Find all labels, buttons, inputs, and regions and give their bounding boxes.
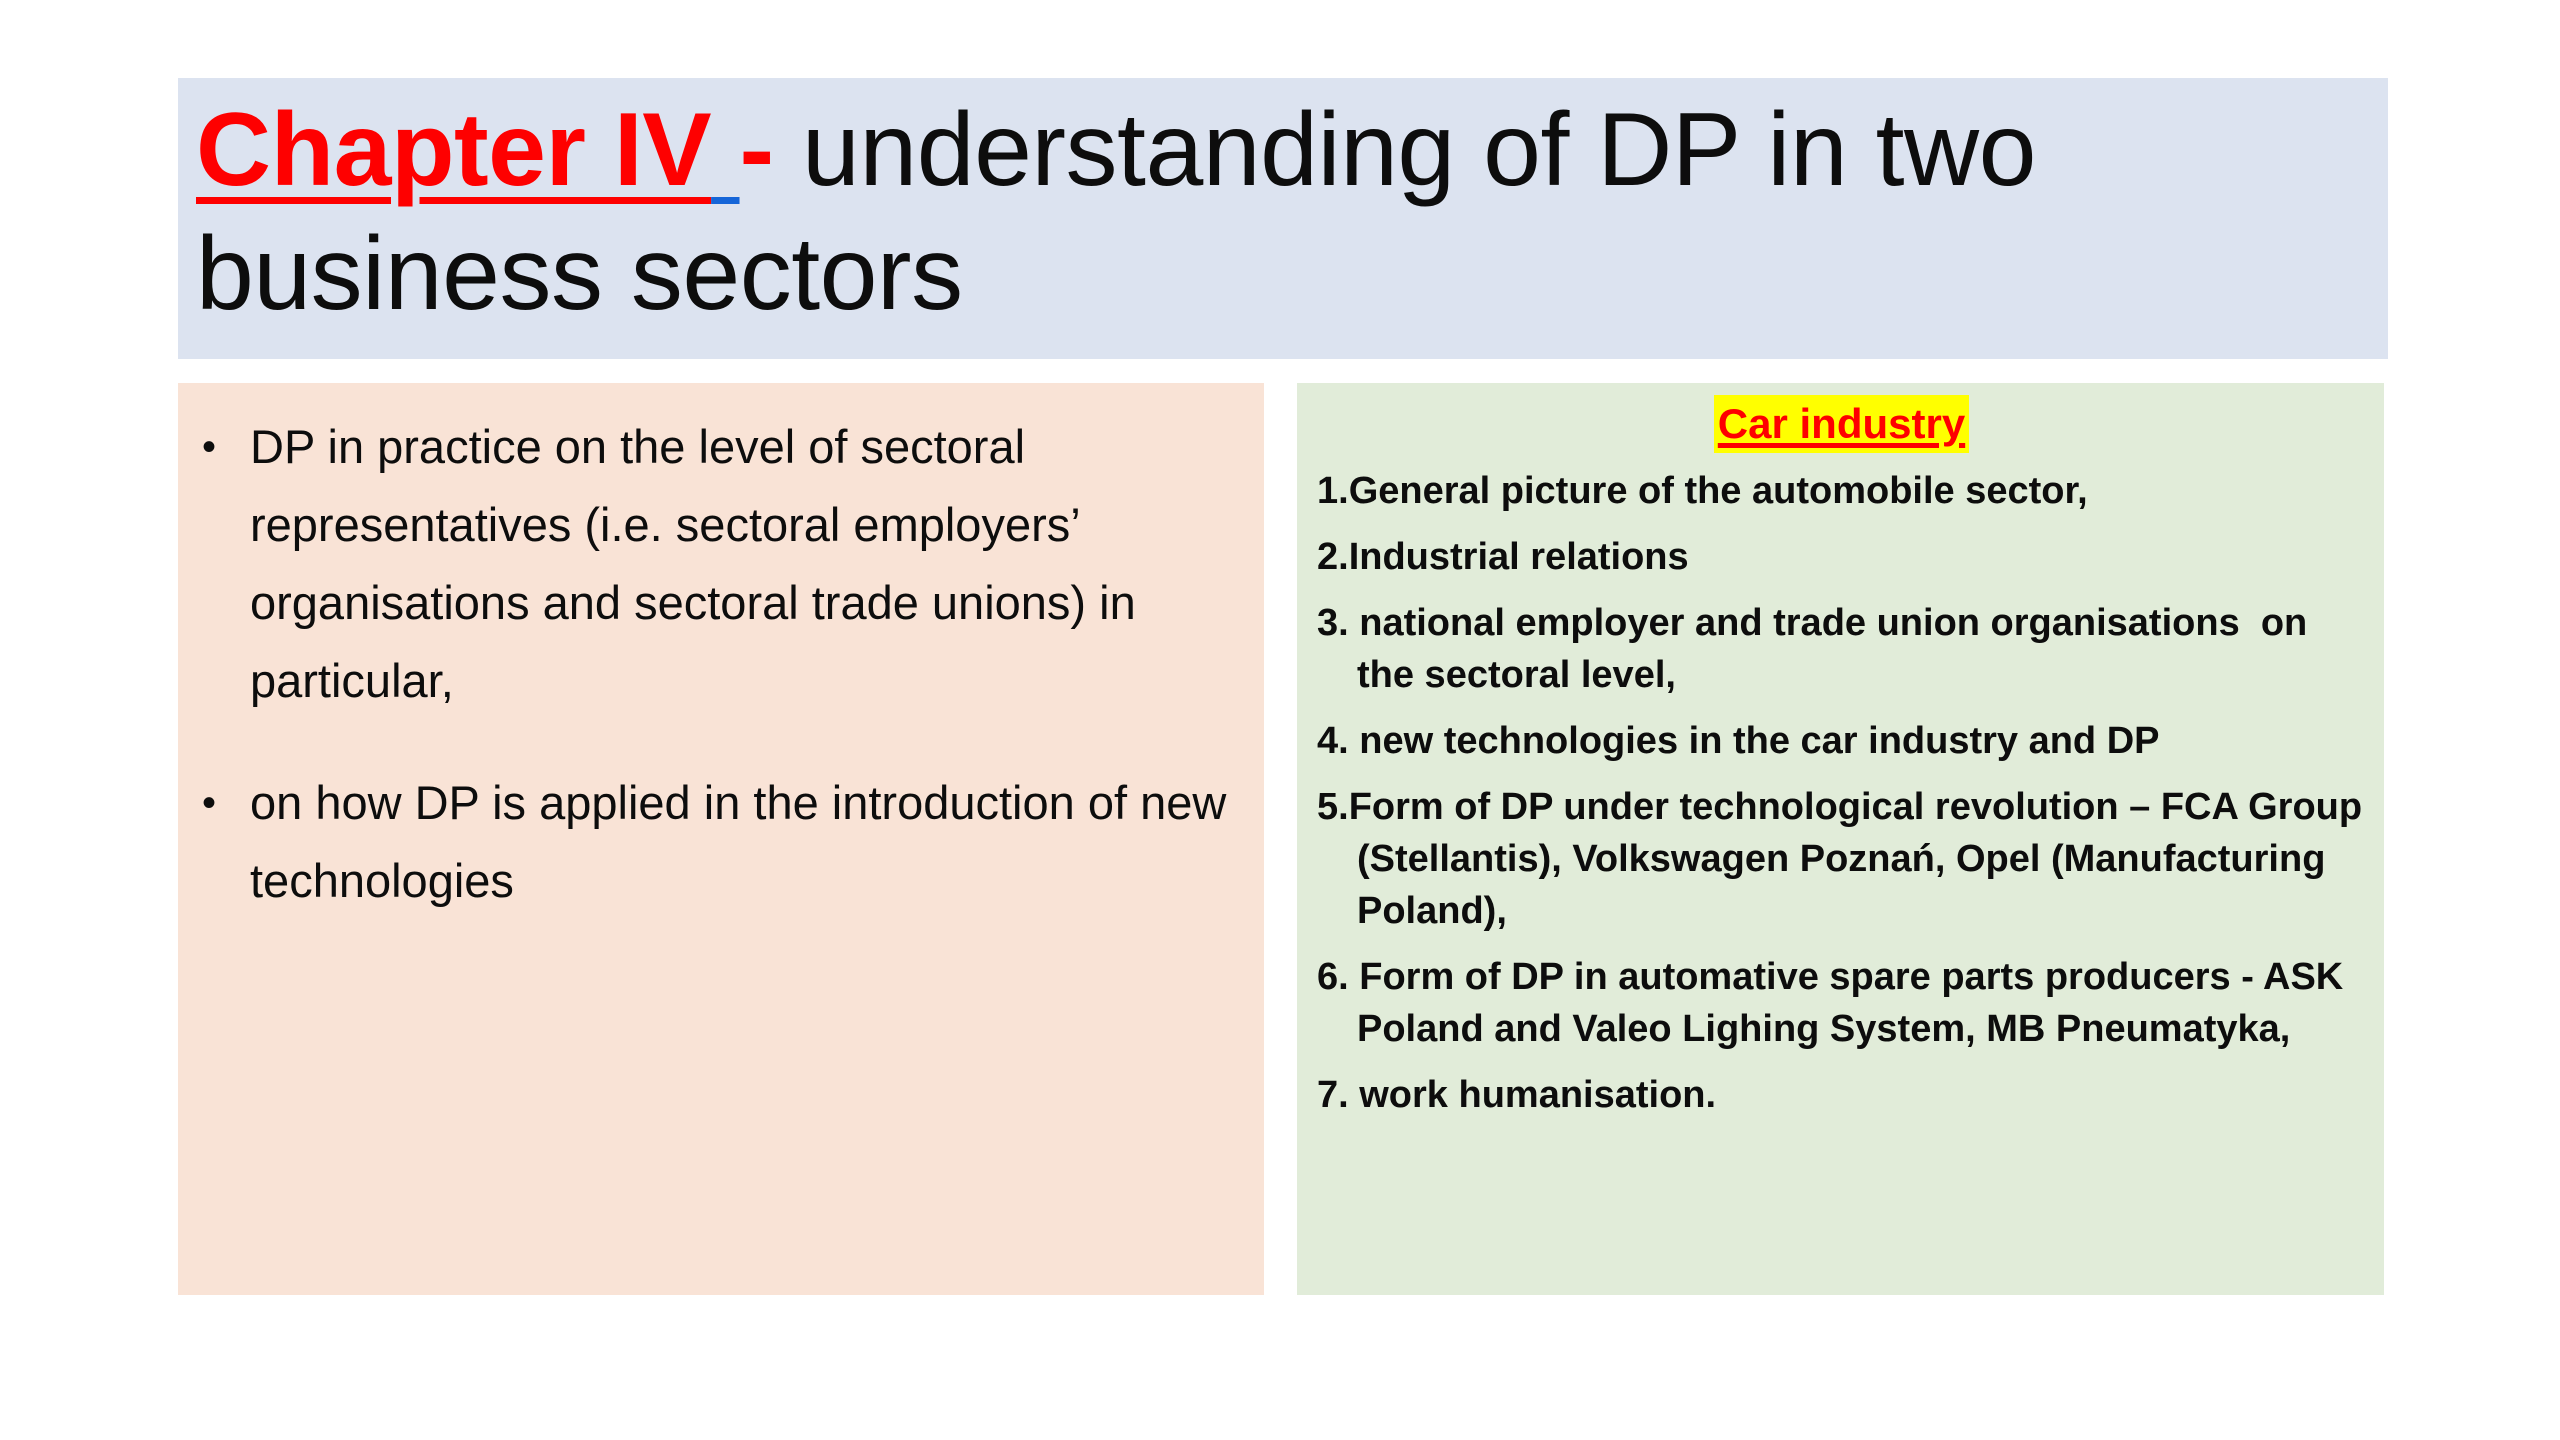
bullet-text: on how DP is applied in the introduction… [250, 764, 1244, 920]
list-item: • DP in practice on the level of sectora… [200, 408, 1244, 720]
right-content-panel: Car industry 1.General picture of the au… [1297, 383, 2384, 1295]
title-chapter-link[interactable]: Chapter IV [196, 92, 711, 208]
title-dash: - [740, 92, 774, 208]
list-item: 5.Form of DP under technological revolut… [1317, 781, 2366, 937]
list-item: 4. new technologies in the car industry … [1317, 715, 2366, 767]
bullet-text: DP in practice on the level of sectoral … [250, 408, 1244, 720]
bullet-icon: • [200, 764, 250, 842]
page-title: Chapter IV - understanding of DP in two … [196, 88, 2374, 336]
list-item: • on how DP is applied in the introducti… [200, 764, 1244, 920]
list-item: 6. Form of DP in automative spare parts … [1317, 951, 2366, 1055]
list-item: 3. national employer and trade union org… [1317, 597, 2366, 701]
list-item: 7. work humanisation. [1317, 1069, 2366, 1121]
left-content-panel: • DP in practice on the level of sectora… [178, 383, 1264, 1295]
car-industry-heading: Car industry [1714, 395, 1969, 453]
list-item: 2.Industrial relations [1317, 531, 2366, 583]
car-industry-heading-wrap: Car industry [1317, 395, 2366, 453]
list-item: 1.General picture of the automobile sect… [1317, 465, 2366, 517]
title-link-space [711, 92, 739, 208]
bullet-icon: • [200, 408, 250, 486]
title-banner: Chapter IV - understanding of DP in two … [178, 78, 2388, 359]
slide-canvas: Chapter IV - understanding of DP in two … [0, 0, 2560, 1440]
